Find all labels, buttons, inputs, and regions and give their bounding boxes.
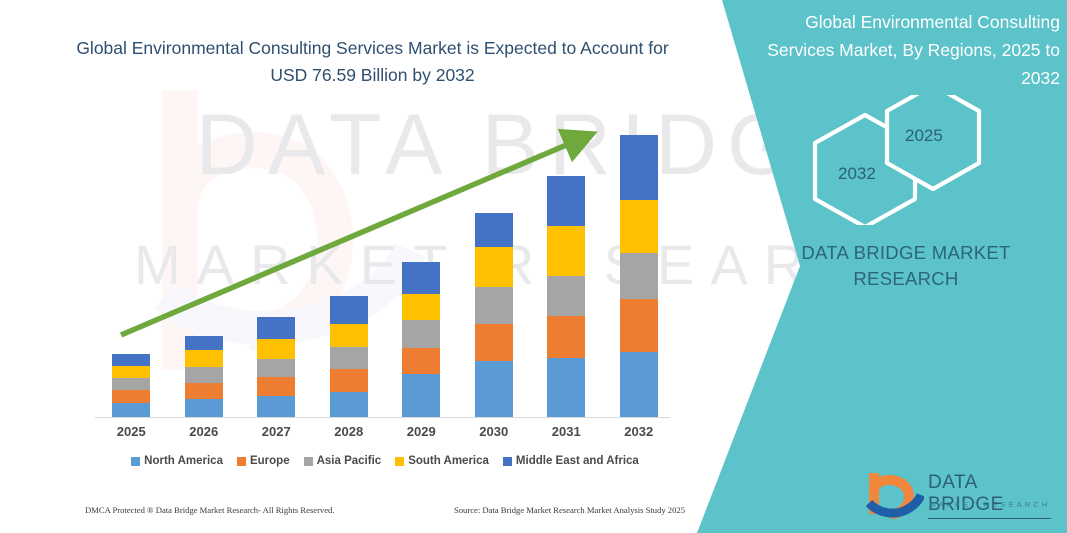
bar-group-2031[interactable] <box>547 176 585 418</box>
legend-swatch-icon <box>395 457 404 466</box>
bar-segment <box>620 299 658 352</box>
data-bridge-logo: DATA BRIDGE MARKET RESEARCH <box>866 470 1051 522</box>
bar-group-2028[interactable] <box>330 296 368 418</box>
bar-segment <box>475 361 513 418</box>
bar-group-2026[interactable] <box>185 336 223 418</box>
infographic-root: DATA BRIDGE MARKET RESEARCH Global Envir… <box>0 0 1067 533</box>
bar-segment <box>185 350 223 367</box>
logo-text-main: DATA BRIDGE <box>928 472 1051 519</box>
bar-segment <box>475 287 513 324</box>
x-label-2031: 2031 <box>536 424 596 439</box>
hexagon-2025-label: 2025 <box>905 126 943 146</box>
chart-title: Global Environmental Consulting Services… <box>60 35 685 89</box>
bar-segment <box>620 135 658 200</box>
bar-segment <box>257 377 295 396</box>
bar-segment <box>112 403 150 418</box>
bar-group-2027[interactable] <box>257 317 295 418</box>
bar-segment <box>620 253 658 299</box>
bar-segment <box>330 324 368 347</box>
x-label-2029: 2029 <box>391 424 451 439</box>
footer-copyright: DMCA Protected ® Data Bridge Market Rese… <box>85 505 335 515</box>
legend-swatch-icon <box>503 457 512 466</box>
bar-segment <box>547 276 585 316</box>
bar-segment <box>112 366 150 378</box>
chart-legend: North AmericaEuropeAsia PacificSouth Ame… <box>95 455 675 467</box>
logo-mark-icon <box>866 470 924 520</box>
bar-segment <box>257 339 295 359</box>
hexagon-2032-label: 2032 <box>838 164 876 184</box>
bar-segment <box>402 294 440 320</box>
bar-segment <box>402 374 440 418</box>
bar-segment <box>547 358 585 418</box>
legend-item[interactable]: North America <box>131 455 223 467</box>
x-axis-line <box>95 417 670 418</box>
bar-segment <box>475 247 513 287</box>
bar-segment <box>330 296 368 324</box>
footer: DMCA Protected ® Data Bridge Market Rese… <box>85 505 685 515</box>
bar-segment <box>330 392 368 418</box>
legend-swatch-icon <box>304 457 313 466</box>
bar-segment <box>185 336 223 350</box>
bar-chart-plot <box>95 120 675 418</box>
legend-label: Europe <box>250 455 290 467</box>
legend-label: North America <box>144 455 223 467</box>
bar-group-2030[interactable] <box>475 213 513 418</box>
legend-label: Asia Pacific <box>317 455 382 467</box>
bar-segment <box>330 347 368 369</box>
chart-area: Global Environmental Consulting Services… <box>0 0 733 533</box>
bar-segment <box>185 367 223 383</box>
legend-swatch-icon <box>237 457 246 466</box>
bar-segment <box>402 262 440 294</box>
legend-item[interactable]: Asia Pacific <box>304 455 382 467</box>
bar-segment <box>475 324 513 361</box>
bar-segment <box>257 359 295 377</box>
x-label-2030: 2030 <box>464 424 524 439</box>
bar-segment <box>257 396 295 418</box>
bar-segment <box>112 378 150 390</box>
legend-swatch-icon <box>131 457 140 466</box>
hexagon-group: 2025 2032 <box>793 95 1053 225</box>
logo-text-sub: MARKET RESEARCH <box>929 500 1050 509</box>
bar-segment <box>185 383 223 399</box>
x-label-2025: 2025 <box>101 424 161 439</box>
x-axis-labels: 20252026202720282029203020312032 <box>95 424 675 446</box>
brand-name: DATA BRIDGE MARKET RESEARCH <box>751 240 1061 292</box>
bar-group-2029[interactable] <box>402 262 440 418</box>
bar-segment <box>330 369 368 392</box>
legend-label: Middle East and Africa <box>516 455 639 467</box>
legend-item[interactable]: Middle East and Africa <box>503 455 639 467</box>
legend-item[interactable]: Europe <box>237 455 290 467</box>
teal-panel-content: Global Environmental Consulting Services… <box>733 0 1067 533</box>
bar-segment <box>112 390 150 403</box>
bar-segment <box>620 200 658 253</box>
bar-segment <box>547 176 585 226</box>
x-label-2026: 2026 <box>174 424 234 439</box>
x-label-2032: 2032 <box>609 424 669 439</box>
bar-group-2032[interactable] <box>620 135 658 418</box>
bar-segment <box>475 213 513 247</box>
bar-segment <box>547 316 585 358</box>
bar-segment <box>185 399 223 418</box>
bar-segment <box>402 320 440 348</box>
x-label-2027: 2027 <box>246 424 306 439</box>
bar-segment <box>257 317 295 339</box>
bar-group-2025[interactable] <box>112 354 150 418</box>
panel-title: Global Environmental Consulting Services… <box>755 8 1060 92</box>
bar-segment <box>547 226 585 276</box>
legend-item[interactable]: South America <box>395 455 489 467</box>
x-label-2028: 2028 <box>319 424 379 439</box>
bar-segment <box>620 352 658 418</box>
bar-segment <box>112 354 150 366</box>
legend-label: South America <box>408 455 489 467</box>
bar-segment <box>402 348 440 374</box>
footer-source: Source: Data Bridge Market Research Mark… <box>454 505 685 515</box>
